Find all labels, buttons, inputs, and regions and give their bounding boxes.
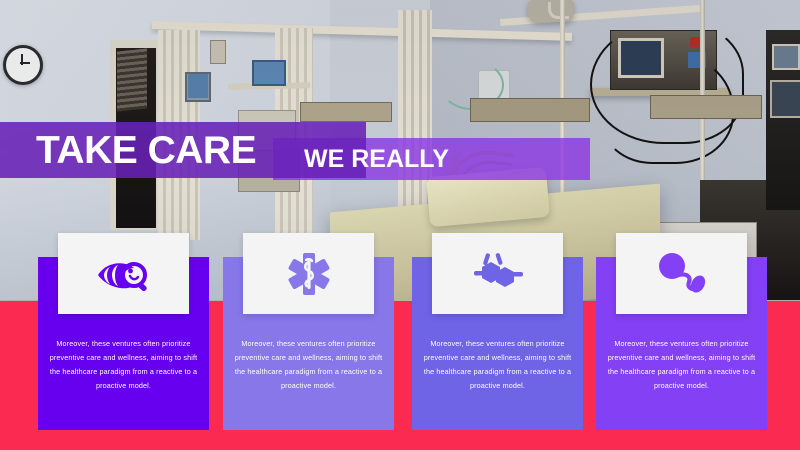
card-body-text-3: Moreover, these ventures often prioritiz… [421,337,574,393]
card-body-text-2: Moreover, these ventures often prioritiz… [232,337,385,393]
card-body-text-1: Moreover, these ventures often prioritiz… [47,337,200,393]
icon-panel-3 [432,233,563,314]
card-body-text-4: Moreover, these ventures often prioritiz… [605,337,758,393]
feature-card-3[interactable]: Moreover, these ventures often prioritiz… [412,257,583,430]
feature-card-2[interactable]: Moreover, these ventures often prioritiz… [223,257,394,430]
card-row: Moreover, these ventures often prioritiz… [0,0,800,450]
feature-card-4[interactable]: Moreover, these ventures often prioritiz… [596,257,767,430]
eye-magnifier-icon [94,254,154,294]
presentation-slide: TAKE CARE WE REALLY Moreover, these vent… [0,0,800,450]
icon-panel-4 [616,233,747,314]
icon-panel-2 [243,233,374,314]
icon-panel-1 [58,233,189,314]
molecule-hexagon-icon [469,252,527,296]
feature-card-1[interactable]: Moreover, these ventures often prioritiz… [38,257,209,430]
star-of-life-asclepius-icon [286,251,332,297]
reflex-hammer-icon [653,251,711,297]
